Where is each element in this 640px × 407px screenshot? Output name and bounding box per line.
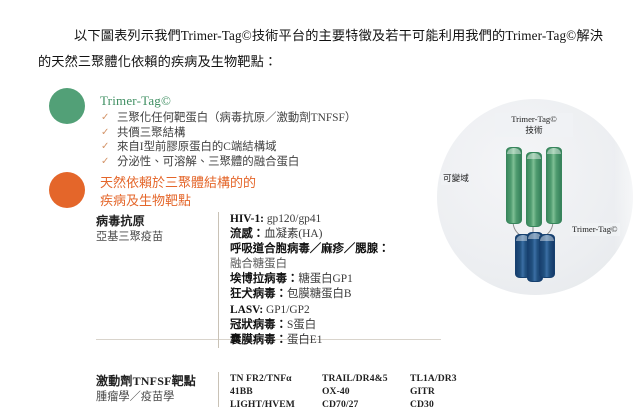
check-icon: ✓ <box>101 126 109 141</box>
natural-trimer-heading: 天然依賴於三聚體結構的的 疾病及生物靶點 <box>100 174 400 209</box>
list-item: ✓來自I型前膠原蛋白的C端結構域 <box>100 140 400 155</box>
tnfsf-item: LIGHT/HVEM <box>230 398 322 407</box>
feature-text: 三聚化任何靶蛋白（病毒抗原／激動劑TNFSF） <box>117 112 356 124</box>
entry-value: GP1/GP2 <box>263 304 310 316</box>
table-row: 病毒抗原 亞基三聚疫苗 HIV-1: gp120/gp41 流感：血凝素(HA)… <box>96 212 441 348</box>
list-item: 融合糖蛋白 <box>230 257 441 272</box>
label-variable-domain: 可變域 <box>441 172 471 185</box>
feature-list: ✓三聚化任何靶蛋白（病毒抗原／激動劑TNFSF） ✓共價三聚結構 ✓來自I型前膠… <box>100 111 400 169</box>
trimer-tag-heading: Trimer-Tag© <box>100 93 171 109</box>
tnfsf-item: CD30 <box>410 398 490 407</box>
tnfsf-item: OX-40 <box>322 385 410 398</box>
list-item: HIV-1: gp120/gp41 <box>230 212 441 227</box>
blue-cylinder-right <box>539 234 555 278</box>
entry-name: 狂犬病毒： <box>230 288 287 300</box>
entry-name: 囊膜病毒： <box>230 334 287 346</box>
entry-name: LASV: <box>230 304 263 316</box>
check-icon: ✓ <box>101 111 109 126</box>
tnfsf-item: TRAIL/DR4&5 <box>322 372 410 385</box>
list-item: 冠狀病毒：S蛋白 <box>230 318 441 333</box>
row-body-tnfsf: TN FR2/TNFα 41BB LIGHT/HVEM TRAIL/DR4&5 … <box>218 372 490 407</box>
list-item: ✓共價三聚結構 <box>100 126 400 141</box>
intro-paragraph: 以下圖表列示我們Trimer-Tag©技術平台的主要特徵及若干可能利用我們的Tr… <box>38 23 603 75</box>
row-label-sub: 腫瘤學／疫苗學 <box>96 389 218 405</box>
orange-bullet-circle-icon <box>49 172 85 208</box>
natural-trimer-heading-line1: 天然依賴於三聚體結構的的 <box>100 174 400 192</box>
list-item: 流感：血凝素(HA) <box>230 227 441 242</box>
table-row: 激動劑TNFSF靶點 腫瘤學／疫苗學 TN FR2/TNFα 41BB LIGH… <box>96 364 441 407</box>
list-item: 狂犬病毒：包膜糖蛋白B <box>230 287 441 302</box>
entry-name: HIV-1: <box>230 213 264 225</box>
entry-name: 呼吸道合胞病毒／麻疹／腮腺： <box>230 243 389 255</box>
tnfsf-column-1: TN FR2/TNFα 41BB LIGHT/HVEM <box>230 372 322 407</box>
entry-value: S蛋白 <box>287 319 316 331</box>
list-item: ✓三聚化任何靶蛋白（病毒抗原／激動劑TNFSF） <box>100 111 400 126</box>
tnfsf-item: TL1A/DR3 <box>410 372 490 385</box>
entry-name: 冠狀病毒： <box>230 319 287 331</box>
feature-text: 分泌性、可溶解、三聚體的融合蛋白 <box>117 156 299 168</box>
tnfsf-item: GITR <box>410 385 490 398</box>
entry-name: 埃博拉病毒： <box>230 273 298 285</box>
list-item: 呼吸道合胞病毒／麻疹／腮腺： <box>230 242 441 257</box>
label-technology-line1: Trimer-Tag© <box>497 114 571 125</box>
label-trimer-tag-technology: Trimer-Tag© 技術 <box>495 113 573 137</box>
row-body-viral-antigen: HIV-1: gp120/gp41 流感：血凝素(HA) 呼吸道合胞病毒／麻疹／… <box>218 212 441 348</box>
entry-value: 糖蛋白GP1 <box>298 273 352 285</box>
tnfsf-target-grid: TN FR2/TNFα 41BB LIGHT/HVEM TRAIL/DR4&5 … <box>230 372 490 407</box>
list-item: 囊膜病毒：蛋白E1 <box>230 333 441 348</box>
viral-antigen-list: HIV-1: gp120/gp41 流感：血凝素(HA) 呼吸道合胞病毒／麻疹／… <box>230 212 441 348</box>
tnfsf-item: TN FR2/TNFα <box>230 372 322 385</box>
row-label-sub: 亞基三聚疫苗 <box>96 229 218 245</box>
list-item: LASV: GP1/GP2 <box>230 303 441 318</box>
natural-trimer-heading-line2: 疾病及生物靶點 <box>100 192 400 210</box>
entry-name: 融合糖蛋白 <box>230 258 287 270</box>
entry-value: 包膜糖蛋白B <box>287 288 352 300</box>
list-item: ✓分泌性、可溶解、三聚體的融合蛋白 <box>100 155 400 170</box>
green-cylinder-left <box>506 147 522 224</box>
green-cylinder-right <box>546 147 562 224</box>
check-icon: ✓ <box>101 140 109 155</box>
row-label-main: 激動劑TNFSF靶點 <box>96 373 218 389</box>
entry-name: 流感： <box>230 228 264 240</box>
row-label-viral-antigen: 病毒抗原 亞基三聚疫苗 <box>96 212 218 245</box>
tnfsf-item: 41BB <box>230 385 322 398</box>
trimer-tag-diagram: Trimer-Tag© 技術 可變域 Trimer-Tag© <box>437 99 633 295</box>
check-icon: ✓ <box>101 155 109 170</box>
tnfsf-item: CD70/27 <box>322 398 410 407</box>
intro-text: 以下圖表列示我們Trimer-Tag©技術平台的主要特徵及若干可能利用我們的Tr… <box>38 28 603 69</box>
feature-text: 來自I型前膠原蛋白的C端結構域 <box>117 141 276 153</box>
figure-page: 以下圖表列示我們Trimer-Tag©技術平台的主要特徵及若干可能利用我們的Tr… <box>0 0 640 407</box>
row-label-tnfsf: 激動劑TNFSF靶點 腫瘤學／疫苗學 <box>96 372 218 405</box>
entry-value: 血凝素(HA) <box>264 228 322 240</box>
label-trimer-tag-domain: Trimer-Tag© <box>570 223 620 236</box>
green-cylinder-center <box>526 152 542 227</box>
row-label-main: 病毒抗原 <box>96 213 218 229</box>
list-item: 埃博拉病毒：糖蛋白GP1 <box>230 272 441 287</box>
green-bullet-circle-icon <box>49 88 85 124</box>
label-technology-line2: 技術 <box>497 125 571 136</box>
tnfsf-column-3: TL1A/DR3 GITR CD30 <box>410 372 490 407</box>
feature-text: 共價三聚結構 <box>117 127 185 139</box>
tnfsf-column-2: TRAIL/DR4&5 OX-40 CD70/27 <box>322 372 410 407</box>
entry-value: gp120/gp41 <box>264 213 321 225</box>
entry-value: 蛋白E1 <box>287 334 322 346</box>
targets-table: 病毒抗原 亞基三聚疫苗 HIV-1: gp120/gp41 流感：血凝素(HA)… <box>96 212 441 407</box>
